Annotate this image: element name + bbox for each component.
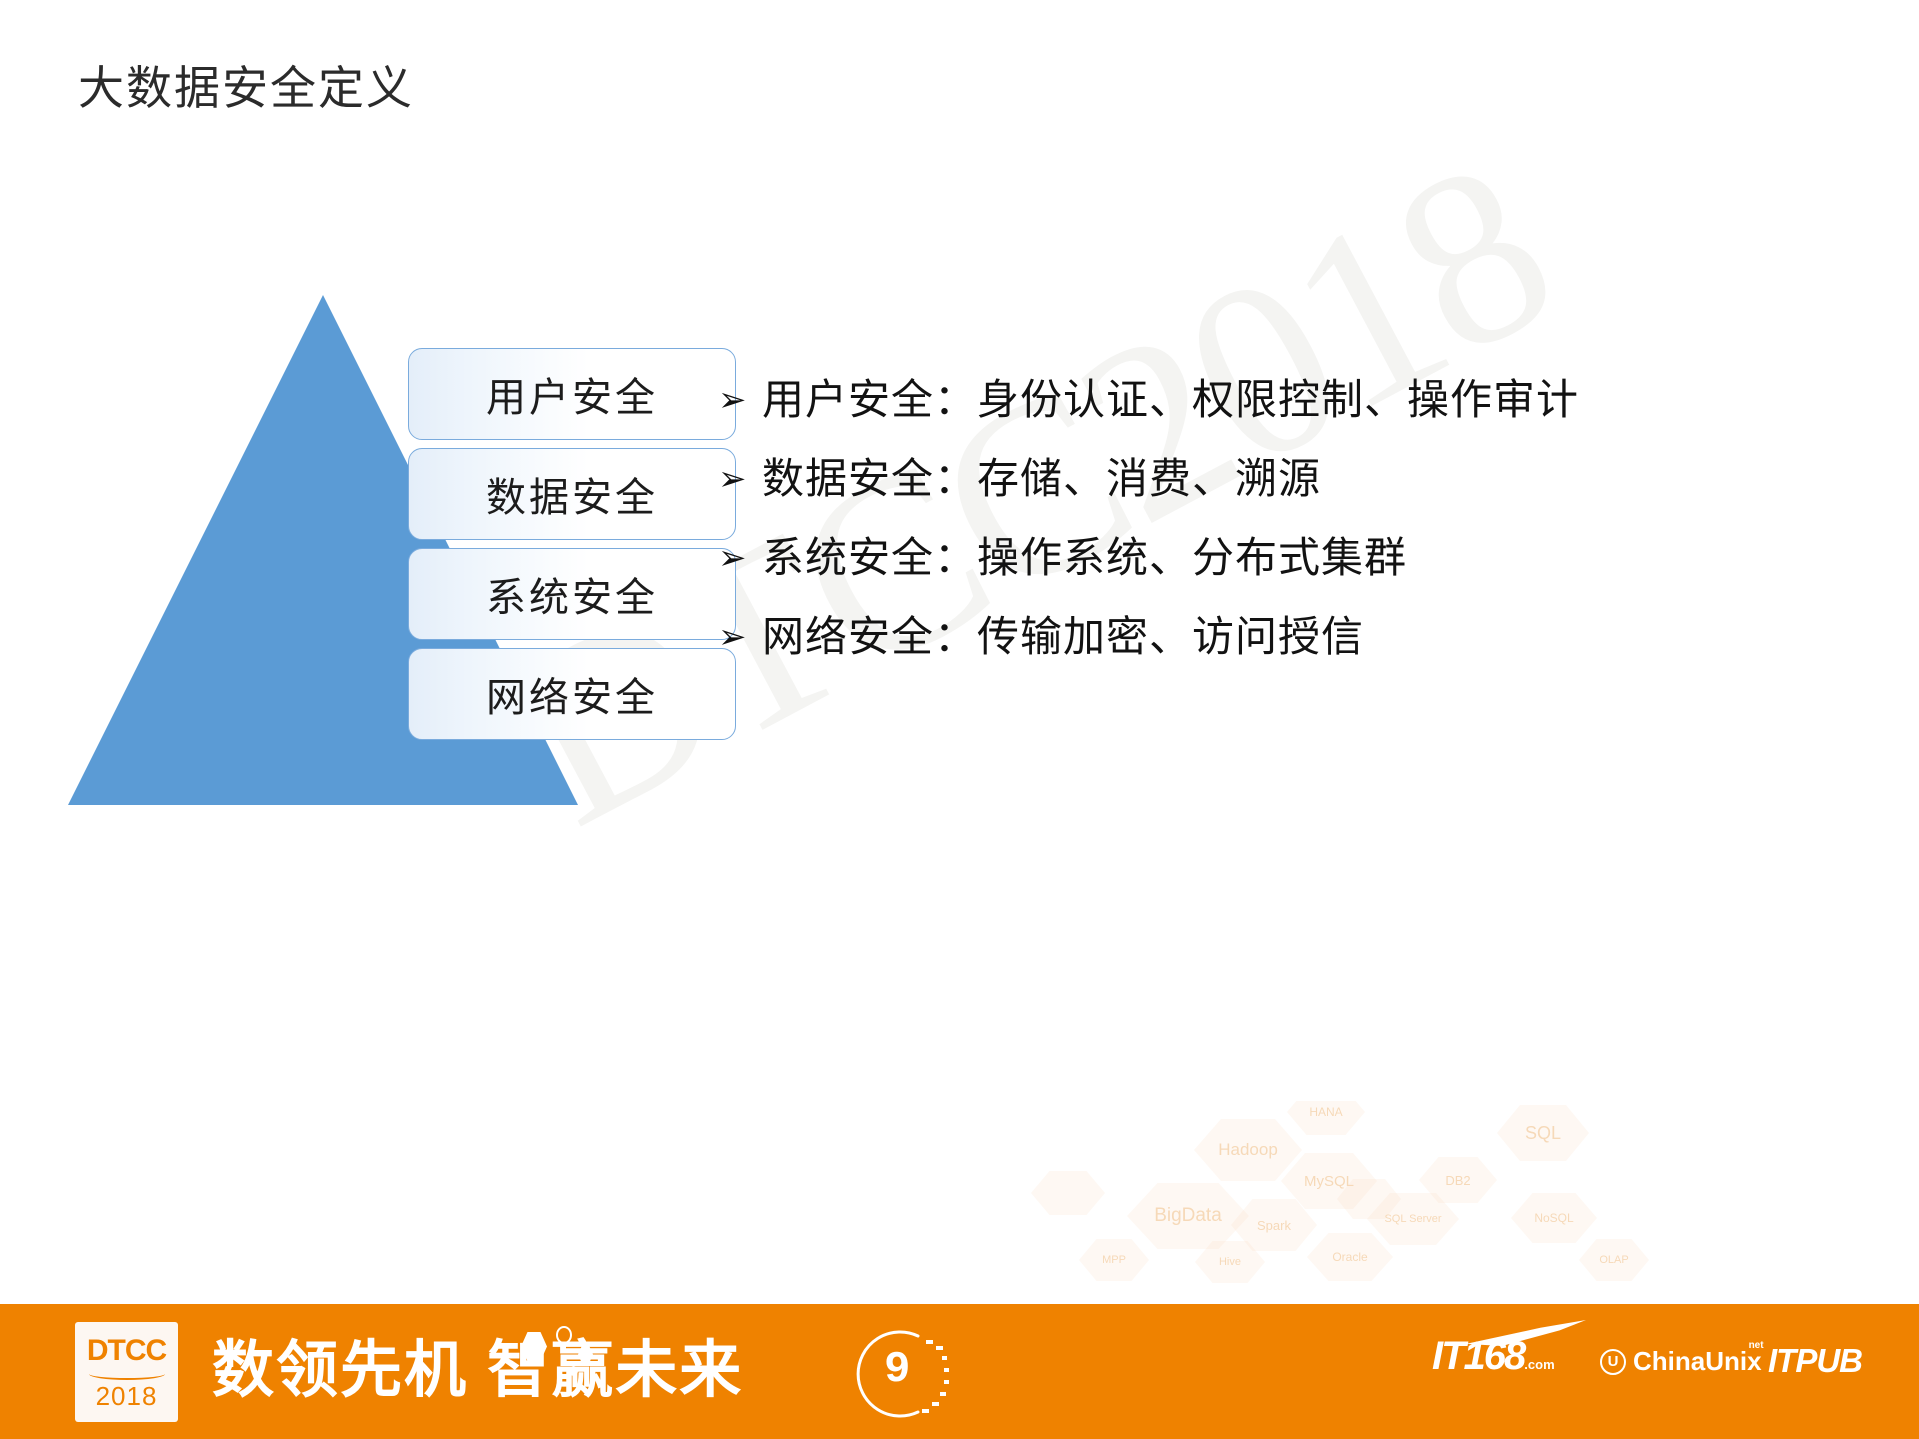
pyramid-level-3[interactable]: 系统安全 bbox=[408, 548, 736, 640]
sponsor-it168-logo[interactable]: IT168.com bbox=[1432, 1334, 1555, 1379]
honeycomb-cell: OLAP bbox=[1579, 1239, 1649, 1281]
pyramid-diagram: 用户安全 数据安全 系统安全 网络安全 bbox=[60, 290, 690, 810]
honeycomb-cell: Hadoop bbox=[1194, 1119, 1302, 1181]
honeycomb-cell bbox=[1337, 1179, 1401, 1219]
chinaunix-mark-icon: U bbox=[1600, 1349, 1626, 1375]
dtcc-logo-year: 2018 bbox=[96, 1383, 158, 1409]
honeycomb-cell: HANA bbox=[1287, 1101, 1365, 1135]
pyramid-level-4-label: 网络安全 bbox=[486, 665, 658, 723]
sponsor-chinaunix-name: ChinaUnixnet bbox=[1633, 1346, 1762, 1377]
bullet-list: ➢ 用户安全：身份认证、权限控制、操作审计 ➢ 数据安全：存储、消费、溯源 ➢ … bbox=[718, 378, 1878, 694]
honeycomb-cell bbox=[1031, 1171, 1105, 1215]
arrow-bullet-icon: ➢ bbox=[718, 536, 762, 580]
arrow-bullet-icon: ➢ bbox=[718, 457, 762, 501]
sponsor-chinaunix-label: ChinaUnix bbox=[1633, 1346, 1762, 1376]
dtcc-logo-arc bbox=[89, 1368, 165, 1380]
list-item-text: 系统安全：操作系统、分布式集群 bbox=[762, 536, 1407, 583]
arrow-bullet-icon: ➢ bbox=[718, 378, 762, 422]
pyramid-level-1-label: 用户安全 bbox=[486, 365, 658, 423]
sponsor-it168-suffix: .com bbox=[1524, 1357, 1554, 1372]
pyramid-level-1[interactable]: 用户安全 bbox=[408, 348, 736, 440]
honeycomb-decoration: HadoopHANAMySQLBigDataSparkSQL ServerDB2… bbox=[1019, 1101, 1919, 1291]
honeycomb-cell: Oracle bbox=[1307, 1233, 1393, 1281]
honeycomb-cell: MySQL bbox=[1281, 1153, 1377, 1209]
sponsor-itpub-logo[interactable]: ITPUB bbox=[1768, 1342, 1862, 1380]
pyramid-level-4[interactable]: 网络安全 bbox=[408, 648, 736, 740]
footer-bar: DTCC 2018 数领先机 智赢未来 9 IT bbox=[0, 1304, 1919, 1439]
arrow-bullet-icon: ➢ bbox=[718, 615, 762, 659]
edition-number: 9 bbox=[884, 1348, 910, 1392]
honeycomb-cell: SQL Server bbox=[1367, 1193, 1459, 1245]
dot-bubble-icon bbox=[569, 1366, 578, 1376]
dtcc-logo-name: DTCC bbox=[87, 1336, 166, 1366]
dtcc-logo: DTCC 2018 bbox=[75, 1322, 178, 1422]
pyramid-levels: 用户安全 数据安全 系统安全 网络安全 bbox=[60, 290, 760, 810]
honeycomb-cell: SQL bbox=[1497, 1105, 1589, 1161]
pyramid-level-3-label: 系统安全 bbox=[486, 565, 658, 623]
sponsor-itpub-name: ITPUB bbox=[1768, 1342, 1862, 1380]
list-item-text: 用户安全：身份认证、权限控制、操作审计 bbox=[762, 378, 1579, 425]
sponsor-chinaunix-logo[interactable]: U ChinaUnixnet bbox=[1600, 1346, 1762, 1377]
honeycomb-cell: Spark bbox=[1231, 1199, 1317, 1251]
honeycomb-cell: NoSQL bbox=[1511, 1193, 1597, 1243]
circle-bubble-icon bbox=[556, 1326, 572, 1344]
pyramid-level-2[interactable]: 数据安全 bbox=[408, 448, 736, 540]
slide-root: 大数据安全定义 DTCC2018 用户安全 数据安全 系统安全 bbox=[0, 0, 1919, 1439]
page-title: 大数据安全定义 bbox=[78, 52, 414, 118]
list-item: ➢ 网络安全：传输加密、访问授信 bbox=[718, 615, 1878, 662]
sponsor-chinaunix-suffix: net bbox=[1749, 1340, 1764, 1351]
list-item-text: 数据安全：存储、消费、溯源 bbox=[762, 457, 1321, 504]
list-item: ➢ 用户安全：身份认证、权限控制、操作审计 bbox=[718, 378, 1878, 425]
list-item-text: 网络安全：传输加密、访问授信 bbox=[762, 615, 1364, 662]
honeycomb-cell: MPP bbox=[1079, 1239, 1149, 1281]
list-item: ➢ 数据安全：存储、消费、溯源 bbox=[718, 457, 1878, 504]
edition-badge: 9 bbox=[856, 1326, 952, 1422]
footer-tagline: 数领先机 智赢未来 bbox=[212, 1326, 743, 1416]
pyramid-level-2-label: 数据安全 bbox=[486, 465, 658, 523]
list-item: ➢ 系统安全：操作系统、分布式集群 bbox=[718, 536, 1878, 583]
honeycomb-cell: BigData bbox=[1127, 1183, 1249, 1249]
honeycomb-cell: DB2 bbox=[1419, 1157, 1497, 1203]
sponsor-it168-text: IT168.com bbox=[1432, 1334, 1555, 1379]
it168-swoosh-icon bbox=[1466, 1320, 1586, 1346]
honeycomb-cell: Hive bbox=[1195, 1241, 1265, 1283]
